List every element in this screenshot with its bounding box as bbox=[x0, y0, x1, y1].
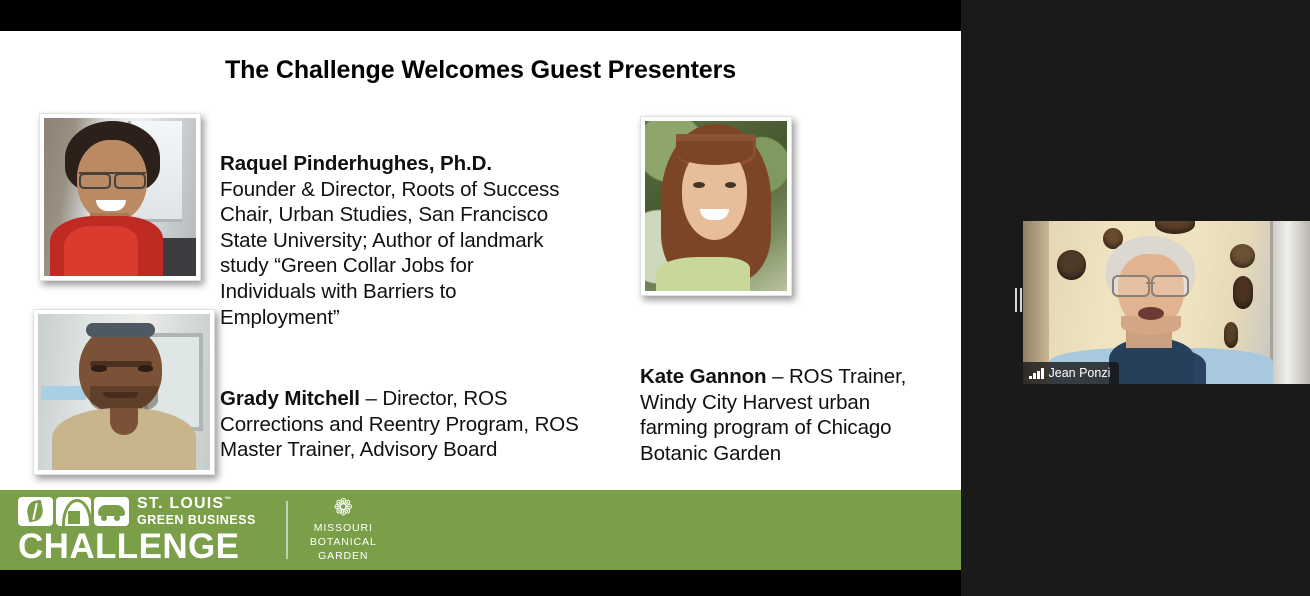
eyeglasses-icon bbox=[1112, 275, 1189, 293]
brand-line-green-business: GREEN BUSINESS bbox=[137, 514, 256, 527]
presenter-separator-grady: – bbox=[360, 387, 383, 410]
stl-green-business-challenge-logo: ST. LOUIS™ GREEN BUSINESS CHALLENGE bbox=[18, 496, 256, 564]
presenter-bio-grady-mitchell: Grady Mitchell – Director, ROS Correctio… bbox=[220, 386, 580, 463]
presenter-name-raquel-pinderhughes: Raquel Pinderhughes, Ph.D. bbox=[220, 152, 492, 175]
partner-name-line-2: BOTANICAL bbox=[310, 536, 377, 550]
brand-line-st-louis: ST. LOUIS bbox=[137, 495, 224, 512]
splitter-bar bbox=[1015, 288, 1017, 312]
plant-mark-icon: ❁ bbox=[310, 496, 377, 519]
signal-bars-icon bbox=[1029, 368, 1044, 379]
panel-splitter-handle[interactable] bbox=[1013, 287, 1023, 313]
presenter-bio-kate-gannon: Kate Gannon – ROS Trainer, Windy City Ha… bbox=[640, 364, 925, 466]
participant-name-label: Jean Ponzi bbox=[1049, 366, 1111, 380]
wall-decor-icon bbox=[1233, 276, 1253, 309]
leaf-icon bbox=[18, 497, 53, 526]
screen-share-window: The Challenge Welcomes Guest Presenters bbox=[0, 0, 1310, 596]
wall-decor-icon bbox=[1224, 322, 1238, 348]
page-title: The Challenge Welcomes Guest Presenters bbox=[0, 56, 961, 85]
arch-building-icon bbox=[56, 497, 91, 526]
wall-decor-icon bbox=[1057, 250, 1086, 279]
splitter-bar bbox=[1020, 288, 1022, 312]
letterbox-bottom bbox=[0, 570, 961, 596]
video-wall-left bbox=[1023, 221, 1049, 384]
participant-name-badge: Jean Ponzi bbox=[1023, 362, 1119, 384]
car-icon bbox=[94, 497, 129, 526]
missouri-botanical-garden-logo: ❁ MISSOURI BOTANICAL GARDEN bbox=[310, 496, 377, 564]
presenter-separator-kate: – bbox=[766, 365, 789, 388]
presenter-bio-raquel-pinderhughes: Raquel Pinderhughes, Ph.D. Founder & Dir… bbox=[220, 151, 570, 330]
partner-name-line-3: GARDEN bbox=[310, 550, 377, 564]
headshot-grady-mitchell bbox=[33, 309, 215, 475]
trademark-symbol: ™ bbox=[224, 497, 232, 504]
video-door bbox=[1270, 221, 1310, 384]
brand-wordmark-challenge: CHALLENGE bbox=[18, 529, 256, 564]
logo-divider bbox=[286, 501, 288, 559]
letterbox-top bbox=[0, 0, 961, 31]
participant-video-tile[interactable]: Jean Ponzi bbox=[1023, 221, 1310, 384]
presenter-description-raquel-pinderhughes: Founder & Director, Roots of Success Cha… bbox=[220, 178, 559, 329]
headshot-kate-gannon bbox=[640, 116, 792, 296]
shared-slide[interactable]: The Challenge Welcomes Guest Presenters bbox=[0, 31, 961, 570]
slide-footer-band: ST. LOUIS™ GREEN BUSINESS CHALLENGE ❁ MI… bbox=[0, 490, 961, 570]
presenter-name-grady-mitchell: Grady Mitchell bbox=[220, 387, 360, 410]
partner-name-line-1: MISSOURI bbox=[310, 522, 377, 536]
presenter-name-kate-gannon: Kate Gannon bbox=[640, 365, 766, 388]
headshot-raquel-pinderhughes bbox=[39, 113, 201, 281]
